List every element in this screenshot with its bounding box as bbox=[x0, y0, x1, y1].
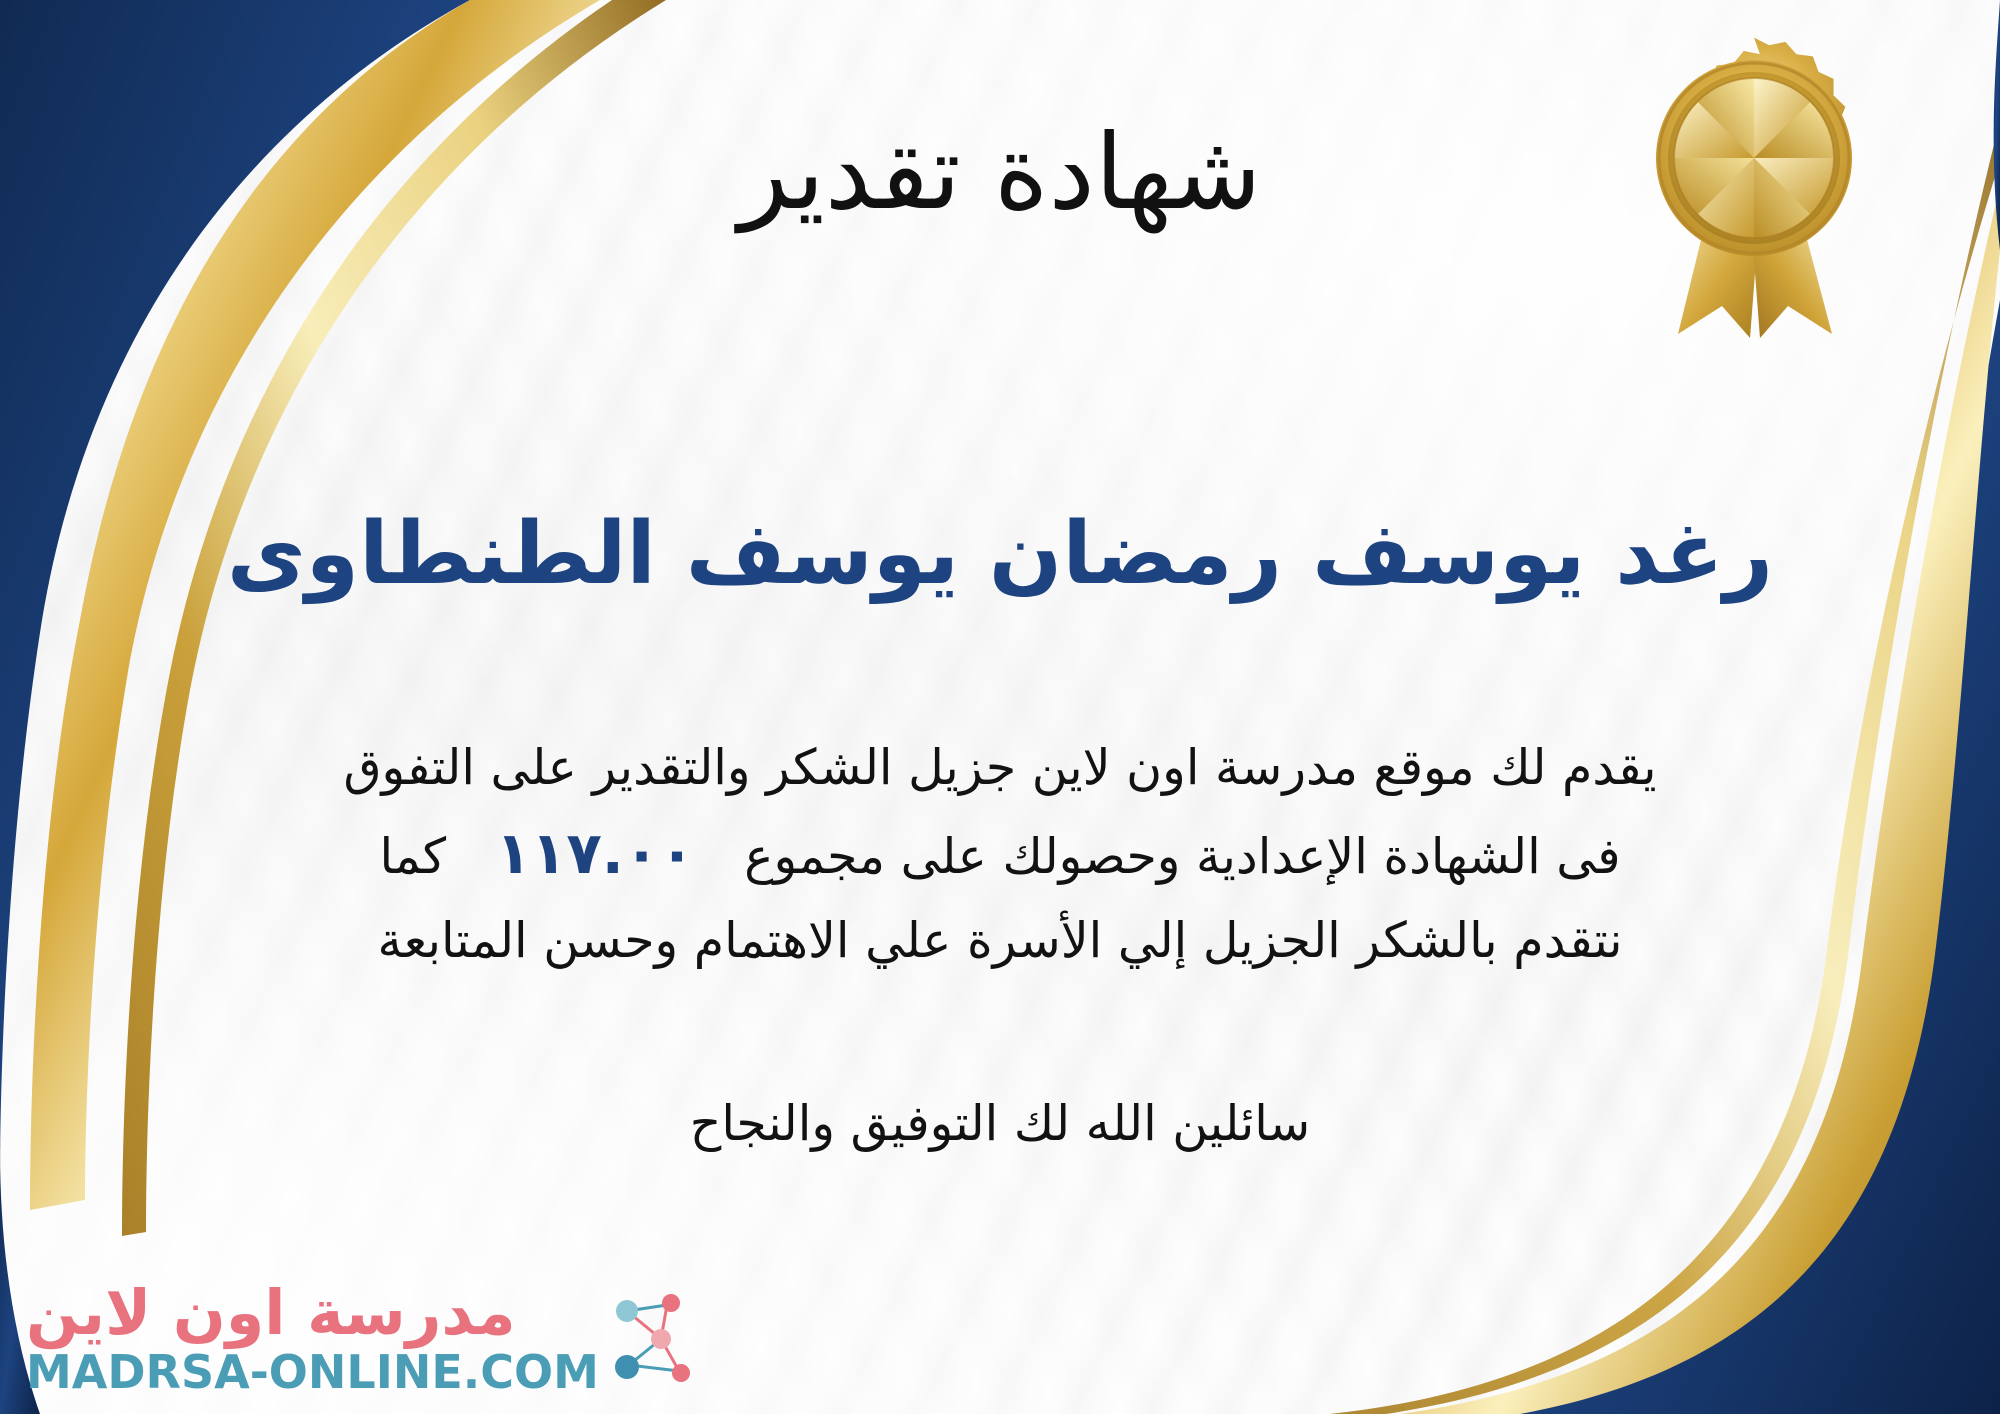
brand-text-group: مدرسة اون لاين MADRSA-ONLINE.COM bbox=[26, 1282, 599, 1396]
closing-wish: سائلين الله لك التوفيق والنجاح bbox=[0, 1095, 2000, 1152]
brand-name-arabic: مدرسة اون لاين bbox=[26, 1282, 516, 1344]
body-line-3: نتقدم بالشكر الجزيل إلي الأسرة علي الاهت… bbox=[60, 901, 1940, 980]
student-name: رغد يوسف رمضان يوسف الطنطاوى bbox=[0, 505, 2000, 604]
certificate-page: شهادة تقدير رغد يوسف رمضان يوسف الطنطاوى… bbox=[0, 0, 2000, 1414]
network-nodes-icon bbox=[605, 1287, 697, 1391]
brand-website: MADRSA-ONLINE.COM bbox=[26, 1348, 599, 1396]
total-score-value: ١١٧.٠٠ bbox=[462, 819, 729, 887]
brand-logo[interactable]: مدرسة اون لاين MADRSA-ONLINE.COM bbox=[26, 1282, 697, 1396]
certificate-title: شهادة تقدير bbox=[0, 120, 2000, 224]
body-line-2: فى الشهادة الإعدادية وحصولك على مجموع ١١… bbox=[60, 807, 1940, 901]
certificate-body: يقدم لك موقع مدرسة اون لاين جزيل الشكر و… bbox=[60, 728, 1940, 981]
body-line-2-suffix: كما bbox=[379, 828, 446, 885]
body-line-2-prefix: فى الشهادة الإعدادية وحصولك على مجموع bbox=[744, 828, 1620, 885]
body-line-1: يقدم لك موقع مدرسة اون لاين جزيل الشكر و… bbox=[60, 728, 1940, 807]
